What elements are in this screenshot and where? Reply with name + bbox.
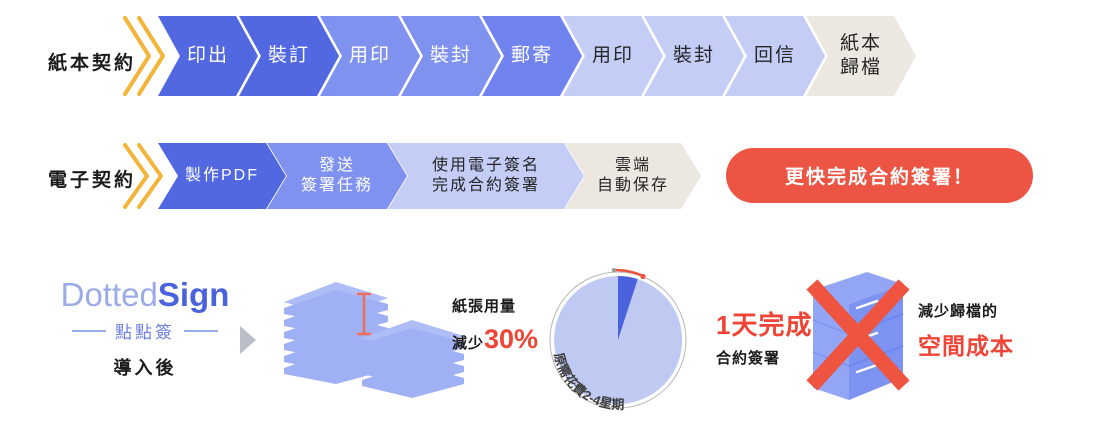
paper-usage-prefix: 減少 xyxy=(452,335,484,352)
flow-step-label: 用印 xyxy=(349,44,391,68)
cta-pill-label: 更快完成合約簽署！ xyxy=(785,162,974,189)
logo-chinese-text: 點點簽 xyxy=(115,318,175,343)
logo-chinese-name: 點點簽 xyxy=(50,318,240,343)
flow-step-label: 裝訂 xyxy=(268,44,310,68)
infographic-canvas: 紙本契約 印出裝訂用印裝封郵寄用印裝封回信紙本 歸檔 電子契約 製作PDF發送 … xyxy=(0,0,1109,421)
cta-pill[interactable]: 更快完成合約簽署！ xyxy=(726,148,1033,203)
logo-dotted-text: Dotted xyxy=(61,276,158,313)
flow-step-r2-3[interactable]: 使用電子簽名 完成合約簽署 xyxy=(388,143,584,209)
flow-step-label: 印出 xyxy=(187,44,229,68)
flow-step-label: 郵寄 xyxy=(511,44,553,68)
flow-step-label: 使用電子簽名 完成合約簽署 xyxy=(432,156,540,197)
arrow-right-icon xyxy=(238,325,258,355)
flow-step-r2-1[interactable]: 製作PDF xyxy=(158,143,286,209)
filing-cabinet-illustration xyxy=(795,268,915,408)
flow-step-label: 紙本 歸檔 xyxy=(840,32,882,81)
logo-dash-right xyxy=(184,330,218,332)
storage-cost-stat: 減少歸檔的 空間成本 xyxy=(918,300,1014,361)
logo-caption: 導入後 xyxy=(50,354,240,380)
paper-usage-value: 減少30% xyxy=(452,324,538,355)
flow-step-r1-1[interactable]: 印出 xyxy=(158,16,258,96)
flow-step-r2-4[interactable]: 雲端 自動保存 xyxy=(565,143,701,209)
logo-dash-left xyxy=(72,330,106,332)
flow-step-label: 製作PDF xyxy=(185,166,259,186)
flow-step-label: 用印 xyxy=(592,44,634,68)
pie-start-dot xyxy=(612,268,616,272)
electronic-contract-flow: 製作PDF發送 簽署任務使用電子簽名 完成合約簽署雲端 自動保存 xyxy=(158,143,682,209)
flow-step-label: 回信 xyxy=(754,44,796,68)
paper-contract-flow: 印出裝訂用印裝封郵寄用印裝封回信紙本 歸檔 xyxy=(158,16,897,96)
paper-stack-illustration xyxy=(274,280,474,400)
flow-step-label: 雲端 自動保存 xyxy=(597,156,669,197)
signing-time-pie-chart: 原需花費2-4星期 xyxy=(546,268,706,418)
flow-step-label: 發送 簽署任務 xyxy=(301,156,373,197)
paper-usage-title: 紙張用量 xyxy=(452,295,538,316)
storage-cost-title: 減少歸檔的 xyxy=(918,300,1014,321)
pie-highlight-dot xyxy=(640,274,645,279)
dottedsign-logo-block: DottedSign 點點簽 導入後 xyxy=(50,278,240,380)
flow-step-r2-2[interactable]: 發送 簽署任務 xyxy=(267,143,407,209)
flow-step-label: 裝封 xyxy=(430,44,472,68)
paper-usage-stat: 紙張用量 減少30% xyxy=(452,295,538,355)
flow-step-label: 裝封 xyxy=(673,44,715,68)
dottedsign-wordmark: DottedSign xyxy=(50,278,240,311)
pie-highlight-arc xyxy=(616,270,642,276)
logo-sign-text: Sign xyxy=(158,276,230,313)
paper-usage-number: 30% xyxy=(484,324,538,354)
storage-cost-value: 空間成本 xyxy=(918,327,1014,361)
